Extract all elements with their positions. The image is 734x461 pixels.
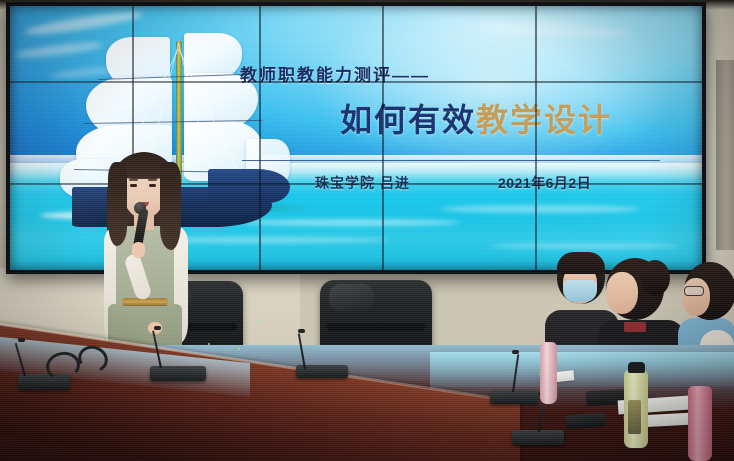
indicator-led <box>255 303 257 305</box>
slide-main-title: 如何有效教学设计 <box>340 95 612 141</box>
bottle-cap <box>628 362 645 373</box>
bezel-vertical <box>535 5 537 270</box>
lanyard <box>624 322 646 332</box>
attendee-face <box>682 278 710 316</box>
presenter-belt <box>122 298 168 306</box>
mic-capsule <box>298 329 305 333</box>
bottle-label <box>628 400 641 434</box>
indicator-led <box>208 343 210 345</box>
mic-base <box>150 366 206 381</box>
chair-highlight <box>329 284 374 311</box>
presenter-eye <box>130 184 137 187</box>
mic-capsule <box>154 326 161 330</box>
bezel-horizontal <box>10 81 702 83</box>
presenter-eye <box>149 184 156 187</box>
presenter-hand <box>132 242 145 258</box>
mic-capsule <box>512 350 519 354</box>
face-mask <box>563 280 597 302</box>
indicator-led <box>258 320 260 322</box>
presenter-eyebrow <box>148 179 157 181</box>
mic-base <box>512 430 564 445</box>
attendee-hair-bun <box>640 260 670 296</box>
presentation-photo-scene: 教师职教能力测评—— 如何有效教学设计 珠宝学院 吕进 2021年6月2日 <box>0 0 734 461</box>
water-bottle-pink[interactable] <box>688 386 712 461</box>
mic-capsule <box>18 338 25 342</box>
indicator-led <box>238 348 240 350</box>
eyeglasses <box>684 286 704 296</box>
presenter[interactable] <box>86 146 204 366</box>
door-frame <box>716 60 734 250</box>
water-bottle-thermos-pink[interactable] <box>540 342 557 404</box>
bezel-vertical <box>382 5 384 270</box>
title-gold-part: 教学设计 <box>476 102 612 138</box>
presenter-eyebrow <box>129 179 138 181</box>
presenter-hair-right <box>160 162 181 250</box>
presenter-hair-left <box>108 162 127 246</box>
mic-base <box>490 390 538 404</box>
slide-divider-rule <box>242 160 660 161</box>
conference-chair[interactable] <box>320 280 432 354</box>
title-dark-part: 如何有效 <box>340 102 476 138</box>
bezel-vertical <box>259 5 261 270</box>
attendee-face <box>606 272 638 314</box>
